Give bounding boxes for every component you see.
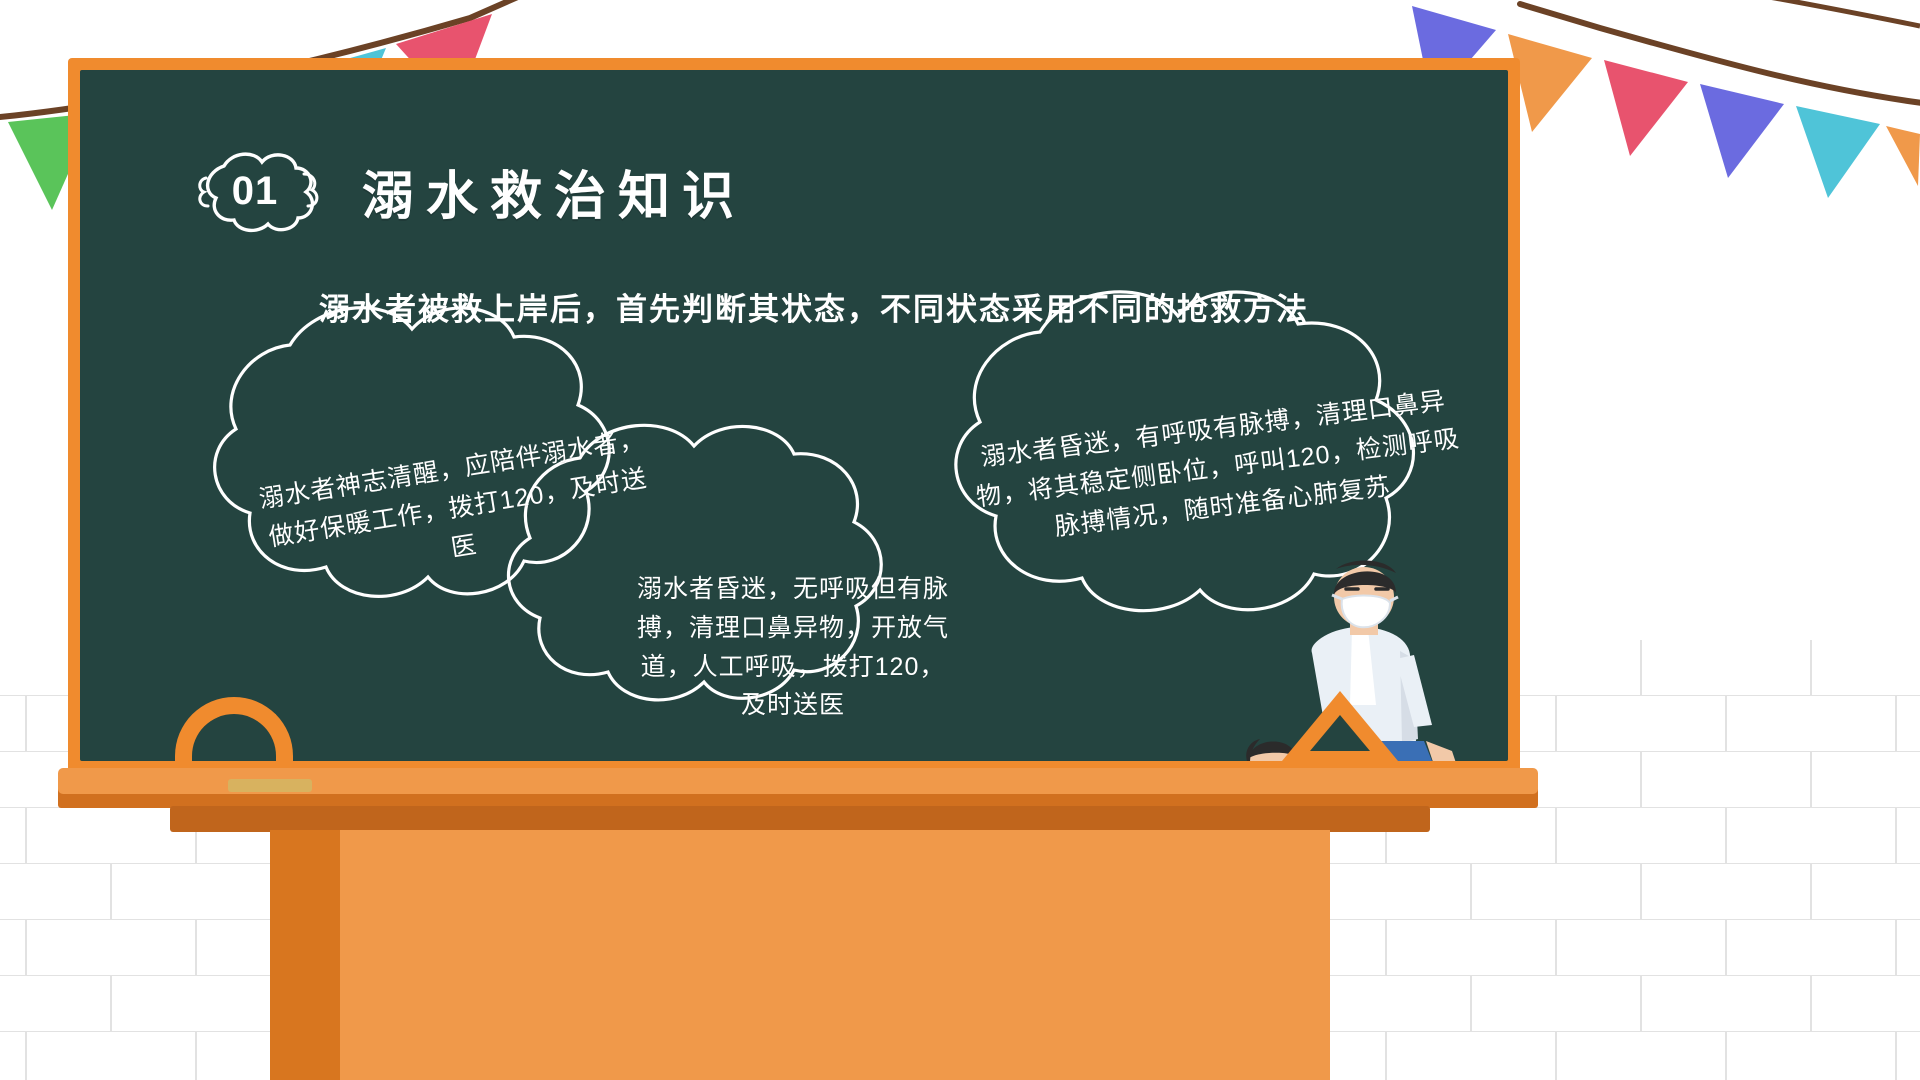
section-number: 01 bbox=[190, 148, 320, 234]
desk-top bbox=[170, 806, 1430, 832]
cloud-text-right: 溺水者昏迷，有呼吸有脉搏，清理口鼻异物，将其稳定侧卧位，呼叫120，检测呼吸脉搏… bbox=[967, 380, 1470, 555]
cloud-text-middle: 溺水者昏迷，无呼吸但有脉搏，清理口鼻异物，开放气道，人工呼吸，拨打120，及时送… bbox=[628, 570, 958, 725]
title-row: 01 溺水救治知识 bbox=[190, 148, 746, 234]
subtitle: 溺水者被救上岸后，首先判断其状态，不同状态采用不同的抢救方法 bbox=[80, 284, 1508, 329]
chalkboard-frame: 01 溺水救治知识 溺水者被救上岸后，首先判断其状态，不同状态采用不同的抢救方法… bbox=[68, 58, 1520, 773]
board-handle-arch-left bbox=[175, 697, 293, 761]
page-title: 溺水救治知识 bbox=[362, 154, 746, 229]
chalkboard: 01 溺水救治知识 溺水者被救上岸后，首先判断其状态，不同状态采用不同的抢救方法… bbox=[80, 70, 1508, 761]
desk-body bbox=[270, 830, 1330, 1080]
board-triangle-right bbox=[1282, 691, 1398, 761]
cloud-text-left: 溺水者神志清醒，应陪伴溺水者，做好保暖工作，拨打120，及时送医 bbox=[251, 419, 664, 596]
chalk-stick bbox=[228, 779, 312, 792]
section-number-badge: 01 bbox=[190, 148, 320, 234]
